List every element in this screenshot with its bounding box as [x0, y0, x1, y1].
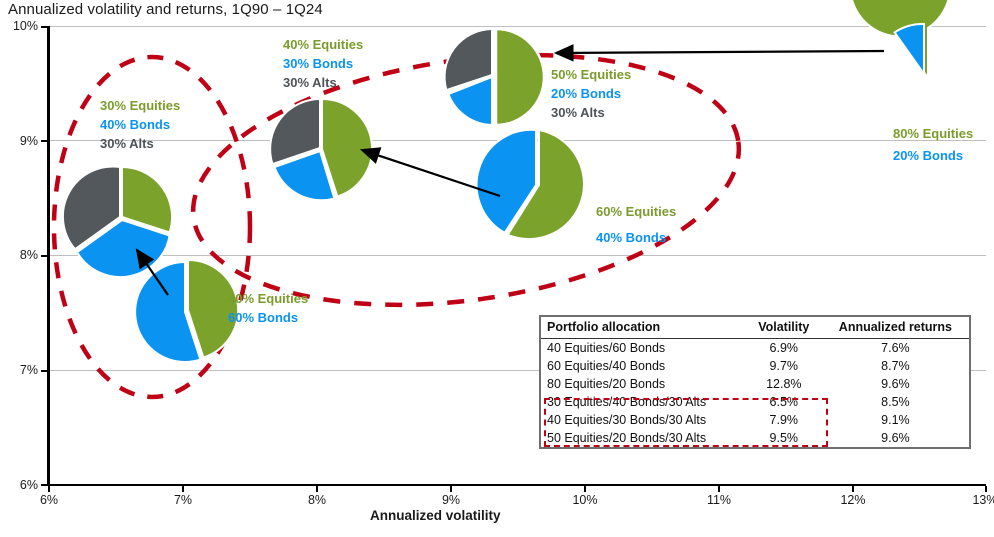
cell-volatility: 9.7%: [746, 357, 820, 375]
x-tick-label-8: 8%: [294, 493, 340, 507]
x-tick-label-7: 7%: [160, 493, 206, 507]
y-axis-title: Annualized returns: [0, 16, 3, 196]
y-tick-6: [41, 484, 48, 486]
pie-label-alts: 30% Alts: [100, 134, 180, 153]
y-tick-label-6: 6%: [0, 478, 38, 492]
gridline-10pct: [48, 26, 986, 27]
cell-volatility: 9.5%: [746, 429, 820, 447]
cell-volatility: 6.9%: [746, 339, 820, 358]
cell-allocation: 40 Equities/30 Bonds/30 Alts: [541, 411, 746, 429]
x-tick-9: [450, 486, 452, 492]
y-tick-7: [41, 370, 48, 372]
table-row: 60 Equities/40 Bonds 9.7% 8.7%: [541, 357, 969, 375]
x-tick-6: [48, 486, 50, 492]
cell-volatility: 7.9%: [746, 411, 820, 429]
table-row: 80 Equities/20 Bonds 12.8% 9.6%: [541, 375, 969, 393]
x-tick-label-9: 9%: [428, 493, 474, 507]
col-header-allocation: Portfolio allocation: [541, 317, 746, 339]
cell-allocation: 40 Equities/60 Bonds: [541, 339, 746, 358]
y-tick-label-10: 10%: [0, 19, 38, 33]
cell-allocation: 80 Equities/20 Bonds: [541, 375, 746, 393]
x-tick-13: [985, 486, 987, 492]
cell-returns: 9.6%: [820, 375, 969, 393]
y-tick-label-8: 8%: [0, 248, 38, 262]
x-tick-7: [182, 486, 184, 492]
x-tick-label-11: 11%: [696, 493, 742, 507]
x-tick-label-12: 12%: [830, 493, 876, 507]
pie-label-80-20: 80% Equities 20% Bonds: [893, 123, 973, 167]
cell-returns: 7.6%: [820, 339, 969, 358]
pie-label-30-40-30: 30% Equities 40% Bonds 30% Alts: [100, 96, 180, 153]
cell-returns: 9.6%: [820, 429, 969, 447]
table-row: 30 Equities/40 Bonds/30 Alts 6.5% 8.5%: [541, 393, 969, 411]
table-header-row: Portfolio allocation Volatility Annualiz…: [541, 317, 969, 339]
y-tick-10: [41, 26, 48, 28]
gridline-8pct: [48, 255, 986, 256]
pie-label-bonds: 20% Bonds: [893, 145, 973, 167]
pie-label-bonds: 60% Bonds: [228, 308, 308, 327]
cell-allocation: 60 Equities/40 Bonds: [541, 357, 746, 375]
pie-label-bonds: 30% Bonds: [283, 54, 363, 73]
pie-label-equities: 50% Equities: [551, 65, 631, 84]
x-tick-10: [584, 486, 586, 492]
pie-label-equities: 40% Equities: [283, 35, 363, 54]
pie-label-bonds: 20% Bonds: [551, 84, 631, 103]
x-axis-line: [47, 484, 986, 486]
pie-label-60-40: 60% Equities 40% Bonds: [596, 199, 676, 251]
table-row: 40 Equities/30 Bonds/30 Alts 7.9% 9.1%: [541, 411, 969, 429]
pie-label-50-20-30: 50% Equities 20% Bonds 30% Alts: [551, 65, 631, 122]
pie-label-equities: 60% Equities: [596, 199, 676, 225]
pie-label-bonds: 40% Bonds: [596, 225, 676, 251]
col-header-returns: Annualized returns: [820, 317, 969, 339]
table-row: 40 Equities/60 Bonds 6.9% 7.6%: [541, 339, 969, 358]
x-tick-label-10: 10%: [562, 493, 608, 507]
y-tick-8: [41, 255, 48, 257]
pie-label-40-30-30: 40% Equities 30% Bonds 30% Alts: [283, 35, 363, 92]
cell-returns: 8.5%: [820, 393, 969, 411]
x-tick-label-6: 6%: [26, 493, 72, 507]
y-tick-label-7: 7%: [0, 363, 38, 377]
x-tick-11: [718, 486, 720, 492]
x-tick-8: [316, 486, 318, 492]
page-title: Annualized volatility and returns, 1Q90 …: [8, 1, 323, 18]
pie-label-alts: 30% Alts: [283, 73, 363, 92]
y-tick-label-9: 9%: [0, 134, 38, 148]
pie-label-equities: 80% Equities: [893, 123, 973, 145]
cell-volatility: 12.8%: [746, 375, 820, 393]
pie-label-bonds: 40% Bonds: [100, 115, 180, 134]
cell-returns: 9.1%: [820, 411, 969, 429]
cell-allocation: 30 Equities/40 Bonds/30 Alts: [541, 393, 746, 411]
portfolio-allocation-table: Portfolio allocation Volatility Annualiz…: [539, 315, 971, 449]
pie-label-equities: 30% Equities: [100, 96, 180, 115]
y-tick-9: [41, 140, 48, 142]
x-axis-title: Annualized volatility: [370, 508, 501, 523]
cell-allocation: 50 Equities/20 Bonds/30 Alts: [541, 429, 746, 447]
x-tick-label-13: 13%: [962, 493, 994, 507]
table-row: 50 Equities/20 Bonds/30 Alts 9.5% 9.6%: [541, 429, 969, 447]
col-header-volatility: Volatility: [746, 317, 820, 339]
pie-label-40-60: 40% Equities 60% Bonds: [228, 289, 308, 327]
pie-label-equities: 40% Equities: [228, 289, 308, 308]
pie-label-alts: 30% Alts: [551, 103, 631, 122]
cell-returns: 8.7%: [820, 357, 969, 375]
x-tick-12: [852, 486, 854, 492]
cell-volatility: 6.5%: [746, 393, 820, 411]
gridline-9pct: [48, 140, 986, 141]
